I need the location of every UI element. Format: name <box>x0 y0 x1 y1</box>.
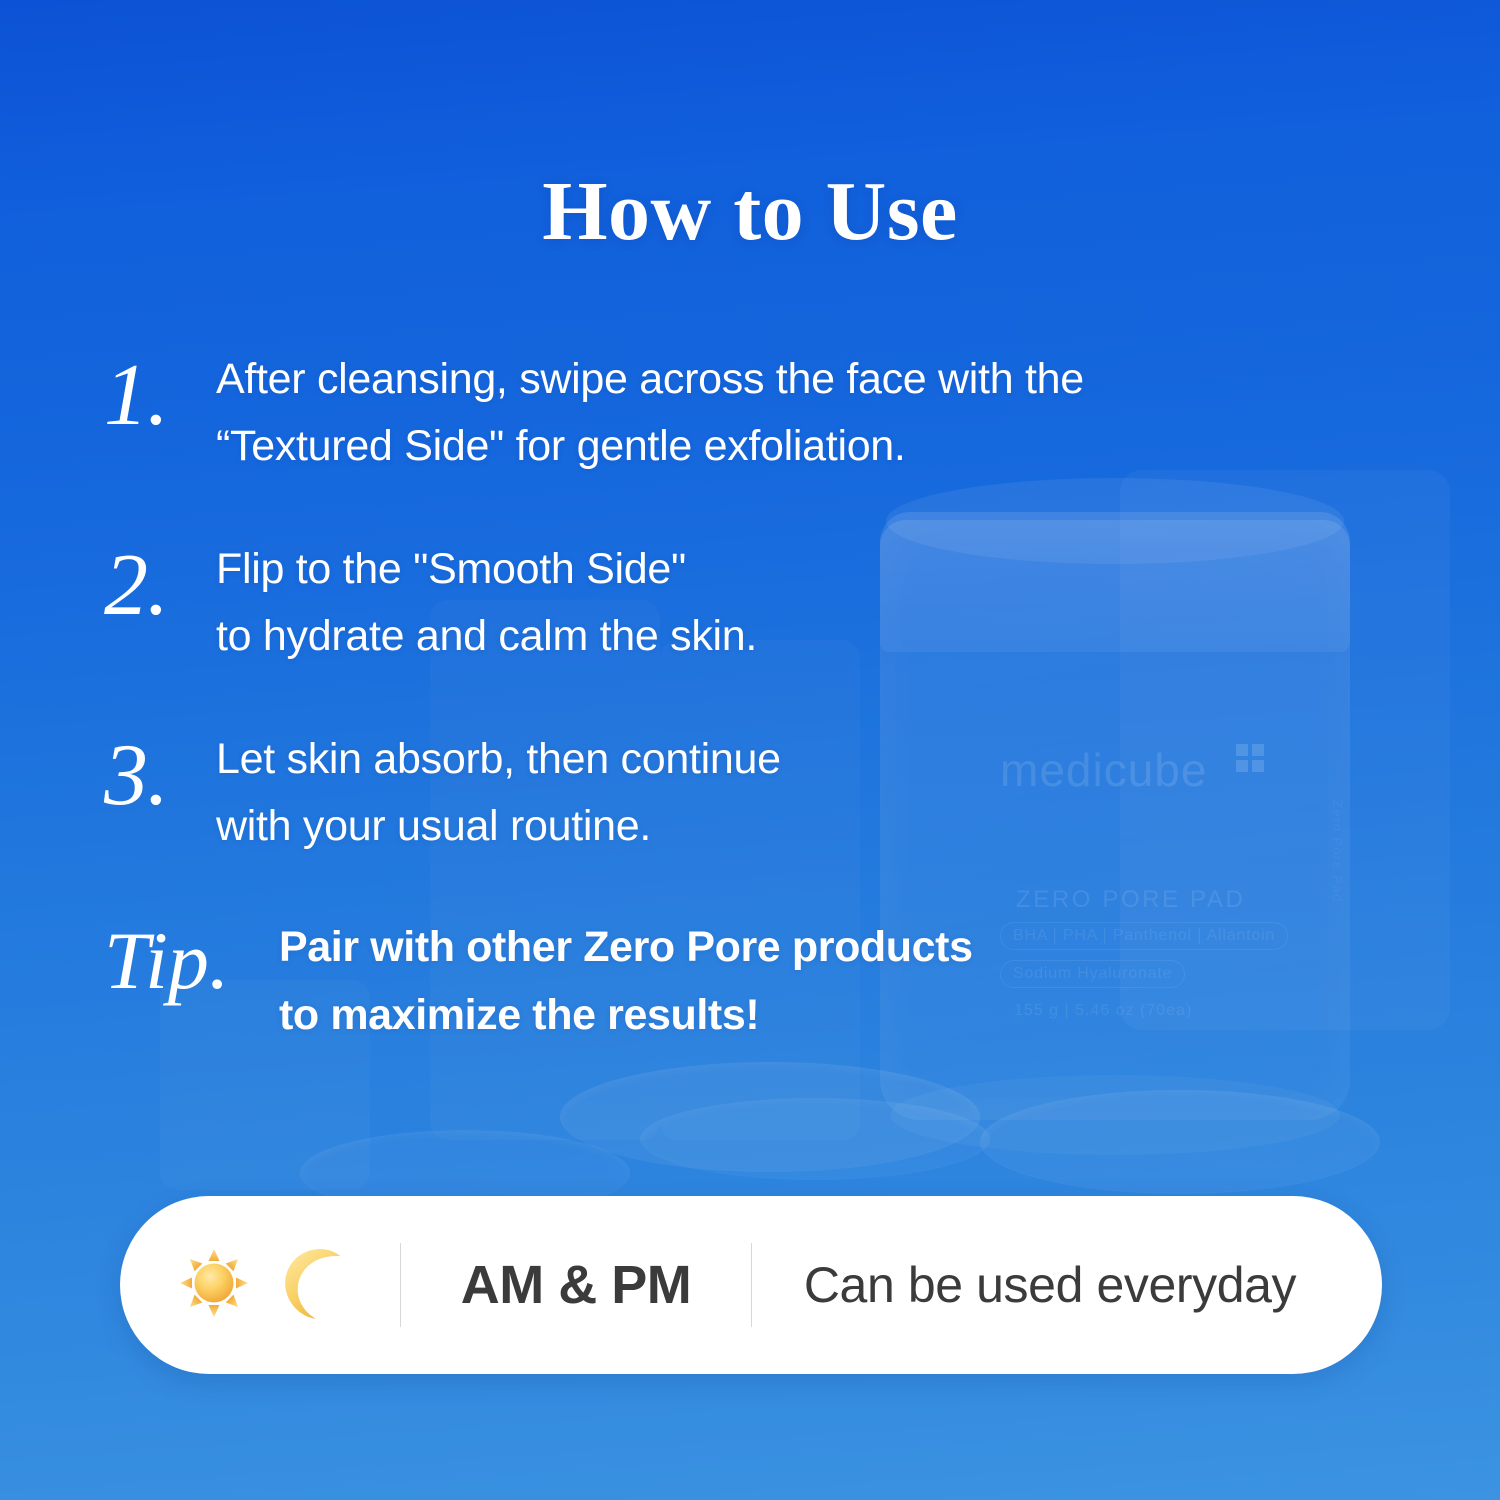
background-lid-disc-3 <box>980 1090 1380 1194</box>
crescent-moon-icon <box>277 1247 343 1324</box>
usage-badge: AM & PM Can be used everyday <box>120 1196 1382 1374</box>
step-number: 3. <box>104 714 216 820</box>
sun-icon <box>177 1246 251 1325</box>
step-text: Flip to the "Smooth Side" to hydrate and… <box>216 524 1304 670</box>
tip-text-line: to maximize the results! <box>279 982 1304 1050</box>
background-lid-disc-2 <box>640 1098 990 1180</box>
how-to-use-graphic: medicube ZERO PORE PAD BHA | PHA | Panth… <box>0 0 1500 1500</box>
step-text-line: to hydrate and calm the skin. <box>216 603 1304 670</box>
step-item: 1. After cleansing, swipe across the fac… <box>104 334 1304 480</box>
tip-text: Pair with other Zero Pore products to ma… <box>279 904 1304 1050</box>
background-lid-disc-1 <box>560 1062 980 1172</box>
step-text-line: “Textured Side" for gentle exfoliation. <box>216 413 1304 480</box>
usage-frequency-label: Can be used everyday <box>752 1256 1382 1314</box>
step-text: After cleansing, swipe across the face w… <box>216 334 1304 480</box>
background-jar-side-text: Zero Pore Pad <box>1330 800 1345 903</box>
step-text-line: Let skin absorb, then continue <box>216 726 1304 793</box>
background-jar-base-ellipse <box>890 1075 1340 1155</box>
tip-text-line: Pair with other Zero Pore products <box>279 914 1304 982</box>
step-text-line: with your usual routine. <box>216 793 1304 860</box>
step-number: 1. <box>104 334 216 440</box>
usage-time-label: AM & PM <box>401 1254 751 1316</box>
tip-item: Tip. Pair with other Zero Pore products … <box>104 904 1304 1050</box>
step-item: 3. Let skin absorb, then continue with y… <box>104 714 1304 860</box>
step-text: Let skin absorb, then continue with your… <box>216 714 1304 860</box>
tip-label: Tip. <box>104 904 279 1002</box>
instruction-steps-list: 1. After cleansing, swipe across the fac… <box>104 334 1304 1050</box>
page-title: How to Use <box>0 168 1500 256</box>
step-text-line: After cleansing, swipe across the face w… <box>216 346 1304 413</box>
step-text-line: Flip to the "Smooth Side" <box>216 536 1304 603</box>
step-item: 2. Flip to the "Smooth Side" to hydrate … <box>104 524 1304 670</box>
usage-badge-icons <box>120 1246 400 1325</box>
step-number: 2. <box>104 524 216 630</box>
